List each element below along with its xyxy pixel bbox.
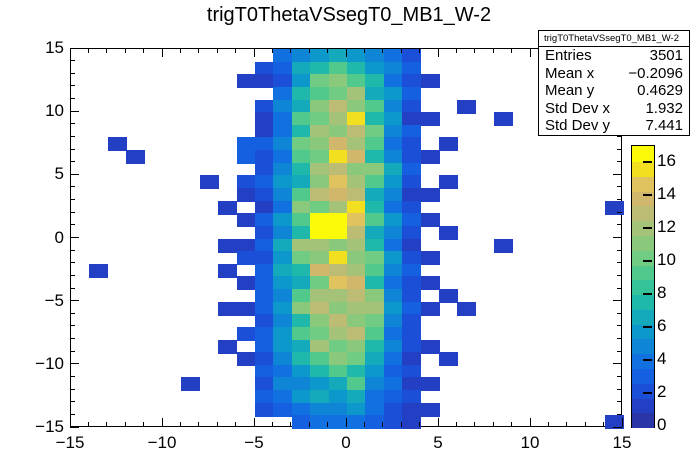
y-axis-minor-tick — [70, 224, 75, 225]
stats-row: Std Dev y7.441 — [539, 117, 689, 135]
x-axis-minor-tick — [217, 422, 218, 427]
palette-segment — [632, 383, 654, 399]
x-axis-minor-tick-top — [309, 48, 310, 53]
palette-tick — [643, 392, 652, 394]
heatmap-cell — [218, 201, 237, 215]
x-axis-tick-label: 15 — [592, 433, 652, 453]
heatmap-cell — [89, 264, 108, 278]
heatmap-cell — [457, 100, 476, 114]
x-axis-major-tick-top — [346, 48, 347, 57]
heatmap-cell — [237, 74, 256, 88]
palette-segment — [632, 250, 654, 266]
heatmap-cell — [421, 302, 440, 316]
x-axis-major-tick-top — [70, 48, 71, 57]
x-axis-minor-tick-top — [290, 48, 291, 53]
stats-row-key: Mean x — [545, 65, 594, 83]
x-axis-minor-tick — [235, 422, 236, 427]
heatmap-cell — [237, 213, 256, 227]
palette-tick-label: 6 — [657, 316, 666, 336]
palette-tick-label: 0 — [657, 415, 666, 435]
palette-tick — [643, 359, 652, 361]
x-axis-minor-tick-top — [493, 48, 494, 53]
x-axis-major-tick-top — [438, 48, 439, 57]
x-axis-major-tick-top — [162, 48, 163, 57]
stats-row-key: Entries — [545, 47, 592, 65]
x-axis-minor-tick — [585, 422, 586, 427]
x-axis-major-tick — [254, 418, 255, 427]
y-axis-major-tick — [70, 300, 79, 301]
palette-tick-label: 2 — [657, 382, 666, 402]
heatmap-cell — [273, 403, 292, 417]
y-axis-minor-tick-right — [617, 313, 622, 314]
x-axis-minor-tick — [511, 422, 512, 427]
palette-segment — [632, 176, 654, 192]
palette-segment — [632, 397, 654, 413]
y-axis-major-tick-right — [613, 237, 622, 238]
y-axis-minor-tick-right — [617, 161, 622, 162]
stats-row-key: Std Dev x — [545, 100, 610, 118]
palette-tick-label: 14 — [657, 184, 676, 204]
x-axis-minor-tick — [456, 422, 457, 427]
stats-box-title: trigT0ThetaVSsegT0_MB1_W-2 — [539, 31, 689, 47]
y-axis-minor-tick-right — [617, 224, 622, 225]
heatmap-cell — [457, 302, 476, 316]
heatmap-cell — [439, 352, 458, 366]
heatmap-cell — [439, 226, 458, 240]
y-axis-minor-tick — [70, 250, 75, 251]
y-axis-minor-tick — [70, 288, 75, 289]
x-axis-minor-tick — [88, 422, 89, 427]
x-axis-minor-tick — [401, 422, 402, 427]
heatmap-cell — [108, 137, 127, 151]
y-axis-major-tick — [70, 48, 79, 49]
heatmap-cell — [494, 112, 513, 126]
stats-row-value: 7.441 — [645, 117, 683, 135]
y-axis-minor-tick-right — [617, 401, 622, 402]
page-title: trigT0ThetaVSsegT0_MB1_W-2 — [0, 4, 698, 27]
stats-row-value: −0.2096 — [628, 65, 683, 83]
heatmap-cell — [421, 74, 440, 88]
heatmap-cell — [237, 327, 256, 341]
y-axis-minor-tick — [70, 389, 75, 390]
x-axis-minor-tick — [548, 422, 549, 427]
heatmap-cell — [126, 150, 145, 164]
palette-tick-label: 4 — [657, 349, 666, 369]
heatmap-cell — [237, 188, 256, 202]
y-axis-minor-tick-right — [617, 199, 622, 200]
stats-row-value: 3501 — [650, 47, 683, 65]
y-axis-minor-tick-right — [617, 149, 622, 150]
y-axis-minor-tick-right — [617, 325, 622, 326]
heatmap-cell — [421, 150, 440, 164]
stats-box[interactable]: trigT0ThetaVSsegT0_MB1_W-2 Entries3501Me… — [538, 30, 690, 136]
y-axis-tick-label: 0 — [8, 228, 64, 248]
y-axis-minor-tick-right — [617, 389, 622, 390]
palette-tick — [643, 227, 652, 229]
x-axis-minor-tick-top — [382, 48, 383, 53]
y-axis-tick-label: −5 — [8, 291, 64, 311]
stats-row: Entries3501 — [539, 47, 689, 65]
x-axis-minor-tick-top — [180, 48, 181, 53]
y-axis-minor-tick-right — [617, 414, 622, 415]
heatmap-cell — [218, 239, 237, 253]
x-axis-minor-tick-top — [474, 48, 475, 53]
y-axis-major-tick — [70, 427, 79, 428]
palette-tick — [643, 326, 652, 328]
y-axis-minor-tick — [70, 85, 75, 86]
heatmap-cell — [237, 251, 256, 265]
heatmap-cell — [421, 403, 440, 417]
stats-row: Mean y0.4629 — [539, 82, 689, 100]
x-axis-minor-tick-top — [125, 48, 126, 53]
stats-row-value: 0.4629 — [637, 82, 683, 100]
x-axis-minor-tick — [272, 422, 273, 427]
heatmap-cell — [421, 112, 440, 126]
y-axis-major-tick-right — [613, 174, 622, 175]
heatmap-cell — [181, 377, 200, 391]
stats-row-key: Mean y — [545, 82, 594, 100]
palette-tick — [643, 293, 652, 295]
y-axis-minor-tick-right — [617, 288, 622, 289]
x-axis-minor-tick — [290, 422, 291, 427]
palette-segment — [632, 412, 654, 428]
x-axis-minor-tick-top — [327, 48, 328, 53]
x-axis-minor-tick-top — [88, 48, 89, 53]
heatmap-cell — [439, 137, 458, 151]
heatmap-cell — [421, 251, 440, 265]
y-axis-minor-tick — [70, 338, 75, 339]
palette-segment — [632, 309, 654, 325]
heatmap-cell — [237, 352, 256, 366]
x-axis-minor-tick — [106, 422, 107, 427]
y-axis-minor-tick-right — [617, 262, 622, 263]
stats-rows: Entries3501Mean x−0.2096Mean y0.4629Std … — [539, 47, 689, 135]
heatmap-cell — [494, 239, 513, 253]
y-axis-minor-tick-right — [617, 186, 622, 187]
x-axis-minor-tick-top — [401, 48, 402, 53]
y-axis-tick-label: 5 — [8, 164, 64, 184]
x-axis-minor-tick — [566, 422, 567, 427]
palette-segment — [632, 294, 654, 310]
y-axis-minor-tick-right — [617, 338, 622, 339]
y-axis-minor-tick-right — [617, 351, 622, 352]
y-axis-minor-tick — [70, 161, 75, 162]
palette-tick-label: 8 — [657, 283, 666, 303]
y-axis-major-tick — [70, 111, 79, 112]
heatmap-cell — [421, 213, 440, 227]
x-axis-minor-tick — [327, 422, 328, 427]
color-palette-axis — [631, 145, 655, 428]
y-axis-major-tick-right — [613, 363, 622, 364]
x-axis-tick-label: −10 — [132, 433, 192, 453]
y-axis-minor-tick — [70, 98, 75, 99]
x-axis-minor-tick — [309, 422, 310, 427]
palette-tick-label: 10 — [657, 250, 676, 270]
palette-segment — [632, 264, 654, 280]
x-axis-minor-tick — [143, 422, 144, 427]
y-axis-minor-tick — [70, 414, 75, 415]
y-axis-tick-label: −10 — [8, 354, 64, 374]
y-axis-minor-tick — [70, 186, 75, 187]
heatmap-cell — [255, 74, 274, 88]
y-axis-tick-label: 10 — [8, 101, 64, 121]
y-axis-minor-tick-right — [617, 212, 622, 213]
y-axis-minor-tick — [70, 199, 75, 200]
heatmap-cell — [421, 340, 440, 354]
x-axis-tick-label: 0 — [316, 433, 376, 453]
x-axis-major-tick-top — [254, 48, 255, 57]
heatmap-cell — [439, 289, 458, 303]
y-axis-minor-tick-right — [617, 136, 622, 137]
y-axis-minor-tick — [70, 376, 75, 377]
x-axis-major-tick — [530, 418, 531, 427]
heatmap-cell — [218, 340, 237, 354]
y-axis-minor-tick — [70, 325, 75, 326]
x-axis-minor-tick — [474, 422, 475, 427]
y-axis-major-tick — [70, 363, 79, 364]
y-axis-tick-label: −15 — [8, 417, 64, 437]
y-axis-major-tick-right — [613, 427, 622, 428]
heatmap-cell — [421, 188, 440, 202]
palette-segment — [632, 338, 654, 354]
heatmap-cell — [421, 276, 440, 290]
x-axis-minor-tick-top — [143, 48, 144, 53]
palette-tick — [643, 194, 652, 196]
x-axis-tick-label: 10 — [500, 433, 560, 453]
y-axis-minor-tick — [70, 212, 75, 213]
x-axis-major-tick-top — [530, 48, 531, 57]
palette-tick — [643, 161, 652, 163]
heatmap-cell — [255, 403, 274, 417]
x-axis-minor-tick-top — [456, 48, 457, 53]
heatmap-cell — [200, 175, 219, 189]
y-axis-minor-tick — [70, 123, 75, 124]
x-axis-minor-tick-top — [364, 48, 365, 53]
heatmap-cell — [421, 377, 440, 391]
palette-segment — [632, 205, 654, 221]
heatmap-cell — [218, 264, 237, 278]
x-axis-tick-label: 5 — [408, 433, 468, 453]
x-axis-minor-tick — [603, 422, 604, 427]
y-axis-minor-tick — [70, 313, 75, 314]
y-axis-minor-tick — [70, 275, 75, 276]
y-axis-tick-label: 15 — [8, 38, 64, 58]
y-axis-minor-tick-right — [617, 376, 622, 377]
palette-segment — [632, 353, 654, 369]
y-axis-major-tick — [70, 174, 79, 175]
x-axis-major-tick — [162, 418, 163, 427]
y-axis-minor-tick — [70, 73, 75, 74]
stats-row: Mean x−0.2096 — [539, 65, 689, 83]
palette-segment — [632, 161, 654, 177]
x-axis-minor-tick-top — [235, 48, 236, 53]
x-axis-major-tick — [346, 418, 347, 427]
x-axis-minor-tick — [493, 422, 494, 427]
palette-segment — [632, 368, 654, 384]
palette-tick — [643, 260, 652, 262]
palette-tick-label: 16 — [657, 151, 676, 171]
y-axis-minor-tick — [70, 351, 75, 352]
y-axis-major-tick — [70, 237, 79, 238]
heatmap-cell — [439, 175, 458, 189]
x-axis-minor-tick-top — [272, 48, 273, 53]
x-axis-minor-tick — [180, 422, 181, 427]
x-axis-minor-tick-top — [217, 48, 218, 53]
y-axis-minor-tick-right — [617, 275, 622, 276]
root-canvas: trigT0ThetaVSsegT0_MB1_W-2 −15−10−505101… — [0, 0, 698, 476]
x-axis-minor-tick — [364, 422, 365, 427]
y-axis-minor-tick-right — [617, 250, 622, 251]
x-axis-minor-tick-top — [419, 48, 420, 53]
x-axis-minor-tick-top — [106, 48, 107, 53]
x-axis-tick-label: −5 — [224, 433, 284, 453]
x-axis-major-tick — [438, 418, 439, 427]
y-axis-minor-tick — [70, 149, 75, 150]
x-axis-minor-tick — [125, 422, 126, 427]
x-axis-minor-tick-top — [511, 48, 512, 53]
heatmap-cell — [237, 150, 256, 164]
y-axis-minor-tick — [70, 262, 75, 263]
y-axis-minor-tick — [70, 60, 75, 61]
palette-segment — [632, 235, 654, 251]
palette-tick-label: 12 — [657, 217, 676, 237]
x-axis-minor-tick — [198, 422, 199, 427]
heatmap-cell — [237, 276, 256, 290]
x-axis-minor-tick-top — [198, 48, 199, 53]
x-axis-minor-tick — [382, 422, 383, 427]
y-axis-minor-tick — [70, 136, 75, 137]
y-axis-major-tick-right — [613, 300, 622, 301]
x-axis-minor-tick — [419, 422, 420, 427]
y-axis-minor-tick — [70, 401, 75, 402]
stats-row-value: 1.932 — [645, 100, 683, 118]
stats-row-key: Std Dev y — [545, 117, 610, 135]
stats-row: Std Dev x1.932 — [539, 100, 689, 118]
heatmap-cell — [237, 302, 256, 316]
heatmap-cell — [218, 302, 237, 316]
